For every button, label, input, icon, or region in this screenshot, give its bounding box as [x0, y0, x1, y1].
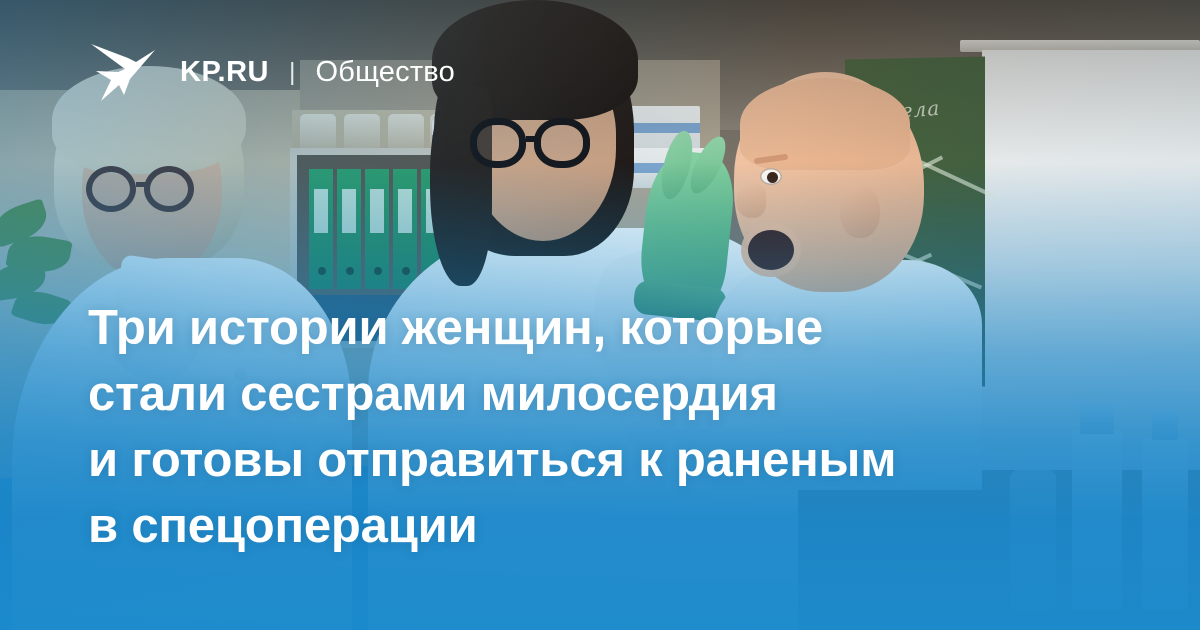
- eyeglasses-lens-right: [534, 118, 590, 168]
- headline-line-3: и готовы отправиться к раненым: [88, 427, 1098, 493]
- rubric-label[interactable]: Общество: [316, 58, 455, 87]
- article-headline: Три истории женщин, которые стали сестра…: [88, 295, 1098, 559]
- eyeglasses-lens-left: [86, 166, 136, 212]
- swallow-bird-icon: [88, 38, 158, 106]
- bottle-cap: [1152, 410, 1178, 440]
- eyeglasses-lens-left: [470, 118, 526, 168]
- eyeglasses-bridge: [136, 182, 146, 187]
- brand-bar: KP.RU | Общество: [88, 38, 455, 106]
- mannequin-pupil: [767, 172, 778, 183]
- eyeglasses-lens-right: [144, 166, 194, 212]
- brand-separator: |: [289, 60, 296, 85]
- green-binder: [365, 169, 389, 289]
- mannequin-open-mouth: [748, 230, 794, 270]
- plastic-bottle: [1142, 438, 1188, 610]
- headline-line-4: в спецоперации: [88, 493, 1098, 559]
- brand-name[interactable]: KP.RU: [180, 58, 269, 87]
- headline-line-2: стали сестрами милосердия: [88, 361, 1098, 427]
- mannequin-ear: [840, 184, 880, 238]
- eyeglasses-bridge: [526, 136, 538, 142]
- social-share-card: дела: [0, 0, 1200, 630]
- mannequin-nose: [736, 184, 766, 218]
- headline-line-1: Три истории женщин, которые: [88, 295, 1098, 361]
- hair-side: [430, 86, 492, 286]
